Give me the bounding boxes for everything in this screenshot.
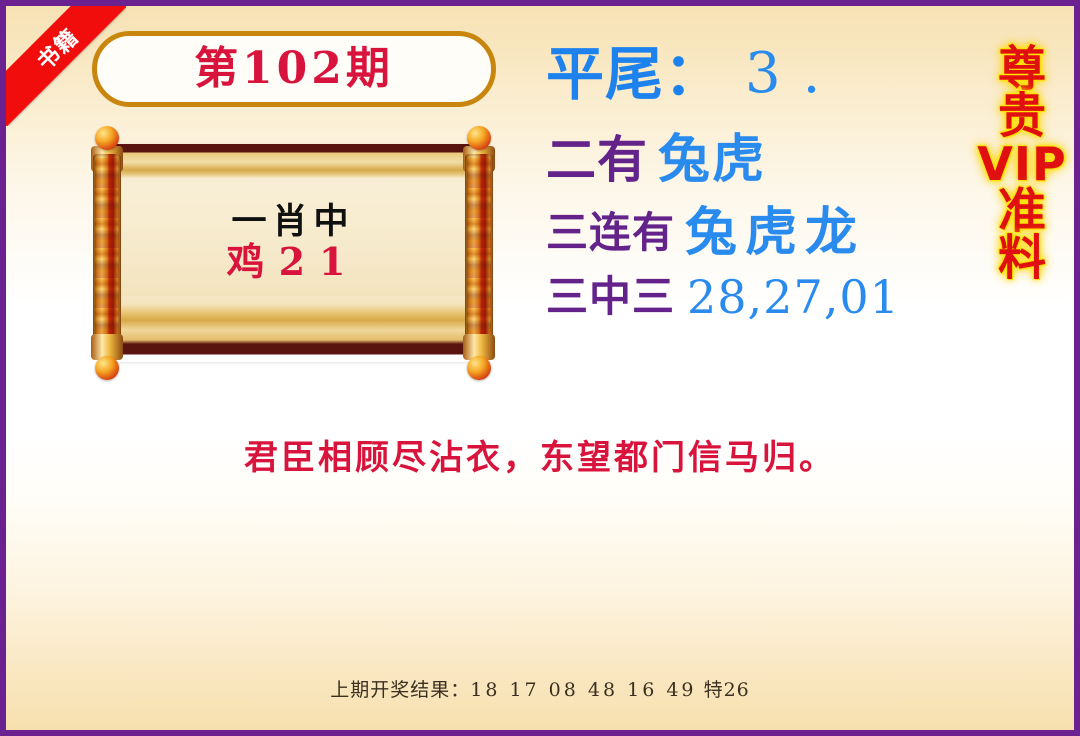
scroll-rod-right-dragon-icon (456, 128, 502, 378)
prediction-value-sanlianyou: 兔虎龙 (685, 207, 865, 259)
vip-line-3: VIP (977, 140, 1066, 188)
last-draw-result: 上期开奖结果：18 17 08 48 16 49 特26 (6, 675, 1074, 702)
last-draw-numbers: 18 17 08 48 16 49 (470, 679, 696, 701)
prediction-row-sanlianyou: 三连有 兔虎龙 (546, 200, 1016, 266)
scroll-answer-number: 21 (279, 239, 360, 284)
rod-knob-top (95, 126, 119, 150)
issue-title-text: 第102期 (194, 47, 394, 91)
issue-title-pill: 第102期 (92, 31, 496, 107)
vip-line-1: 尊 (998, 46, 1046, 93)
prediction-value-pingwei: 3 (745, 46, 781, 102)
scroll-answer: 鸡21 (227, 242, 360, 282)
scroll-answer-zodiac: 鸡 (227, 239, 279, 284)
prediction-value-sanzhongsan: 28,27,01 (687, 274, 900, 320)
prediction-row-pingwei: 平尾： 3 . (546, 28, 1016, 120)
scroll-content: 一肖中 鸡21 (106, 188, 480, 298)
rod-shaft (465, 154, 493, 352)
scroll-rod-left-dragon-icon (84, 128, 130, 378)
last-draw-special-number: 26 (724, 679, 750, 701)
corner-ribbon-label: 书籍 (29, 20, 86, 77)
vip-line-5: 料 (998, 235, 1046, 282)
prediction-label-eryou: 二有 (546, 135, 648, 185)
poem-text: 君臣相顾尽沾衣，东望都门信马归。 (6, 430, 1074, 479)
prediction-suffix-pingwei: . (803, 46, 821, 102)
prediction-list: 平尾： 3 . 二有 兔虎 三连有 兔虎龙 三中三 28,27,01 (546, 28, 1016, 328)
prediction-label-sanlianyou: 三连有 (546, 212, 675, 254)
last-draw-label: 上期开奖结果： (330, 679, 470, 701)
scroll-graphic: 一肖中 鸡21 (78, 128, 508, 378)
prediction-value-eryou: 兔虎 (658, 134, 766, 186)
prediction-label-pingwei: 平尾： (546, 45, 723, 103)
vip-line-2: 贵 (998, 93, 1046, 140)
last-draw-special-label: 特 (704, 679, 724, 701)
corner-ribbon-banner: 书籍 (6, 6, 126, 126)
prediction-label-sanzhongsan: 三中三 (546, 276, 675, 318)
rod-shaft (93, 154, 121, 352)
scroll-heading: 一肖中 (231, 204, 354, 241)
prediction-row-eryou: 二有 兔虎 (546, 120, 1016, 200)
rod-knob-bottom (467, 356, 491, 380)
vip-line-4: 准 (998, 188, 1046, 235)
vip-vertical-banner: 尊 贵 VIP 准 料 (982, 46, 1062, 282)
poster-canvas: 书籍 第102期 一肖中 鸡21 (0, 0, 1080, 736)
rod-knob-top (467, 126, 491, 150)
prediction-row-sanzhongsan: 三中三 28,27,01 (546, 266, 1016, 328)
corner-ribbon: 书籍 (6, 6, 126, 126)
rod-knob-bottom (95, 356, 119, 380)
